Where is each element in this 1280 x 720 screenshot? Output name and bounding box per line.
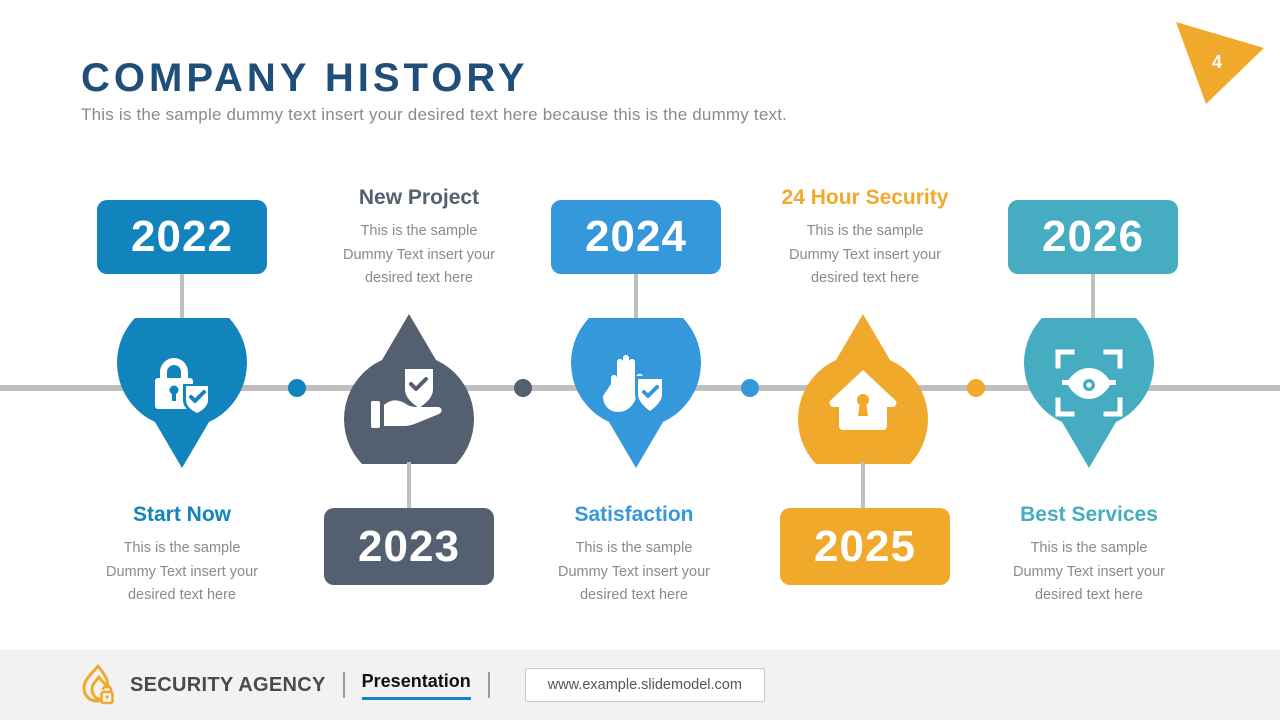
year-chip-2025[interactable]: 2025	[780, 508, 950, 585]
page-subtitle: This is the sample dummy text insert you…	[81, 105, 787, 125]
year-chip-2023[interactable]: 2023	[324, 508, 494, 585]
stem-2025	[861, 462, 865, 508]
timeline-body: This is the sample Dummy Text insert you…	[519, 537, 749, 607]
footer-url-box[interactable]: www.example.slidemodel.com	[525, 668, 765, 702]
body-line: This is the sample	[974, 537, 1204, 560]
slide-canvas: COMPANY HISTORY This is the sample dummy…	[0, 0, 1280, 720]
timeline-node-2026[interactable]	[1024, 318, 1154, 468]
year-chip-2026[interactable]: 2026	[1008, 200, 1178, 274]
stem-2024	[634, 274, 638, 320]
timeline-text-satisfaction: Satisfaction This is the sample Dummy Te…	[519, 503, 749, 608]
year-chip-label: 2025	[814, 522, 916, 572]
body-line: Dummy Text insert your	[304, 244, 534, 267]
timeline-connector-dot-3	[741, 379, 759, 397]
body-line: This is the sample	[519, 537, 749, 560]
year-chip-label: 2024	[585, 212, 687, 262]
timeline-heading: 24 Hour Security	[750, 186, 980, 210]
year-chip-label: 2026	[1042, 212, 1144, 262]
timeline-node-2025[interactable]	[798, 314, 928, 464]
body-line: desired text here	[67, 584, 297, 607]
body-line: desired text here	[519, 584, 749, 607]
stem-2026	[1091, 274, 1095, 320]
body-line: This is the sample	[750, 220, 980, 243]
body-line: Dummy Text insert your	[974, 561, 1204, 584]
page-number-label: 4	[1168, 10, 1272, 110]
body-line: This is the sample	[304, 220, 534, 243]
body-line: desired text here	[974, 584, 1204, 607]
timeline-body: This is the sample Dummy Text insert you…	[750, 220, 980, 290]
timeline-text-best-services: Best Services This is the sample Dummy T…	[974, 503, 1204, 608]
eye-scan-icon	[1024, 318, 1154, 448]
flame-lock-icon	[80, 664, 120, 706]
timeline-connector-dot-2	[514, 379, 532, 397]
timeline-node-2022[interactable]	[117, 318, 247, 468]
year-chip-2024[interactable]: 2024	[551, 200, 721, 274]
year-chip-label: 2022	[131, 212, 233, 262]
year-chip-label: 2023	[358, 522, 460, 572]
timeline-connector-dot-4	[967, 379, 985, 397]
stem-2023	[407, 462, 411, 508]
body-line: desired text here	[750, 267, 980, 290]
body-line: Dummy Text insert your	[67, 561, 297, 584]
timeline-heading: Start Now	[67, 503, 297, 527]
timeline-heading: New Project	[304, 186, 534, 210]
timeline-node-2024[interactable]	[571, 318, 701, 468]
timeline-body: This is the sample Dummy Text insert you…	[67, 537, 297, 607]
timeline-text-new-project: New Project This is the sample Dummy Tex…	[304, 186, 534, 291]
stem-2022	[180, 274, 184, 320]
footer-divider-1	[343, 672, 345, 698]
timeline-heading: Satisfaction	[519, 503, 749, 527]
body-line: Dummy Text insert your	[519, 561, 749, 584]
house-keyhole-icon	[798, 334, 928, 464]
timeline-text-24-hour-security: 24 Hour Security This is the sample Dumm…	[750, 186, 980, 291]
page-title: COMPANY HISTORY	[81, 56, 528, 101]
body-line: Dummy Text insert your	[750, 244, 980, 267]
timeline-body: This is the sample Dummy Text insert you…	[974, 537, 1204, 607]
body-line: desired text here	[304, 267, 534, 290]
timeline-connector-dot-1	[288, 379, 306, 397]
page-number-badge: 4	[1168, 10, 1272, 110]
footer-presentation-label[interactable]: Presentation	[362, 671, 471, 700]
year-chip-2022[interactable]: 2022	[97, 200, 267, 274]
hand-shield-icon	[344, 334, 474, 464]
timeline-heading: Best Services	[974, 503, 1204, 527]
body-line: This is the sample	[67, 537, 297, 560]
timeline-text-start-now: Start Now This is the sample Dummy Text …	[67, 503, 297, 608]
timeline-node-2023[interactable]	[344, 314, 474, 464]
footer-brand-label: SECURITY AGENCY	[130, 674, 326, 697]
hand-stop-shield-icon	[571, 318, 701, 448]
timeline-body: This is the sample Dummy Text insert you…	[304, 220, 534, 290]
padlock-shield-icon	[117, 318, 247, 448]
footer-bar: SECURITY AGENCY Presentation www.example…	[0, 650, 1280, 720]
footer-divider-2	[488, 672, 490, 698]
